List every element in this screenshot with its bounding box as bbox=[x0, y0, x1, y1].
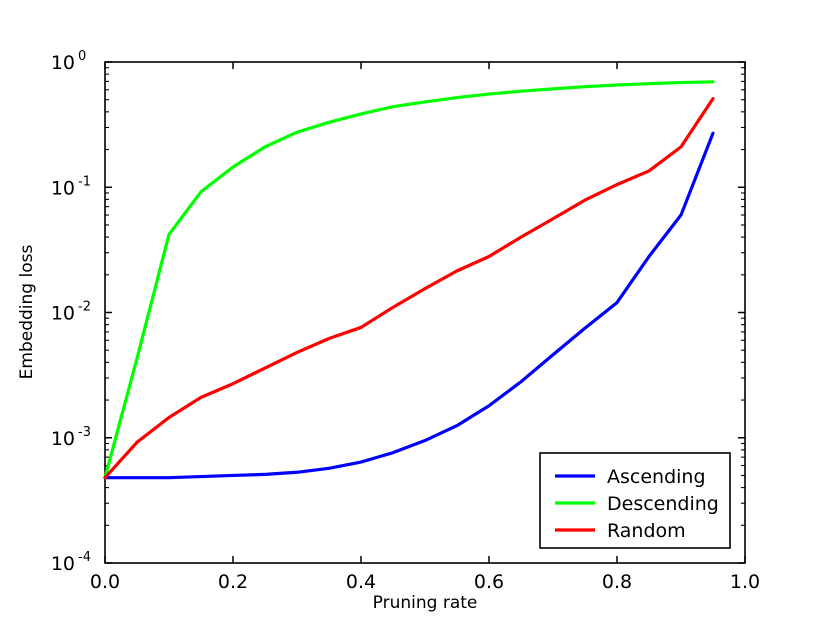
svg-text:10: 10 bbox=[51, 303, 75, 325]
svg-text:0: 0 bbox=[78, 49, 86, 64]
svg-text:10: 10 bbox=[51, 52, 75, 74]
svg-text:10: 10 bbox=[51, 553, 75, 575]
x-axis-tick-labels: 0.00.20.40.60.81.0 bbox=[90, 571, 760, 593]
x-tick-label: 1.0 bbox=[730, 571, 760, 593]
chart-plot: 0.00.20.40.60.81.0 10-410-310-210-1100 A… bbox=[0, 0, 830, 623]
y-tick-label: 100 bbox=[51, 49, 86, 74]
y-tick-label: 10-3 bbox=[51, 425, 91, 450]
x-tick-label: 0.6 bbox=[474, 571, 504, 593]
series-line-ascending bbox=[105, 133, 713, 477]
series-line-random bbox=[105, 99, 713, 478]
y-tick-label: 10-1 bbox=[51, 174, 91, 199]
x-tick-label: 0.2 bbox=[218, 571, 248, 593]
series-lines bbox=[105, 82, 713, 478]
series-line-descending bbox=[105, 82, 713, 478]
svg-text:10: 10 bbox=[51, 177, 75, 199]
chart-legend: AscendingDescendingRandom bbox=[540, 453, 730, 548]
svg-text:-2: -2 bbox=[78, 300, 91, 315]
y-tick-label: 10-2 bbox=[51, 300, 91, 325]
svg-text:-3: -3 bbox=[78, 425, 91, 440]
x-axis-label: Pruning rate bbox=[373, 593, 478, 613]
y-axis-label: Embedding loss bbox=[17, 245, 37, 380]
figure-canvas: 0.00.20.40.60.81.0 10-410-310-210-1100 A… bbox=[0, 0, 830, 623]
legend-label-ascending: Ascending bbox=[607, 466, 706, 488]
svg-text:-1: -1 bbox=[78, 174, 91, 189]
legend-label-random: Random bbox=[607, 520, 686, 542]
svg-text:10: 10 bbox=[51, 428, 75, 450]
y-axis-tick-labels: 10-410-310-210-1100 bbox=[51, 49, 91, 575]
x-tick-label: 0.0 bbox=[90, 571, 120, 593]
legend-label-descending: Descending bbox=[607, 493, 719, 515]
svg-text:-4: -4 bbox=[78, 550, 91, 565]
x-tick-label: 0.4 bbox=[346, 571, 376, 593]
x-tick-label: 0.8 bbox=[602, 571, 632, 593]
y-tick-label: 10-4 bbox=[51, 550, 91, 575]
